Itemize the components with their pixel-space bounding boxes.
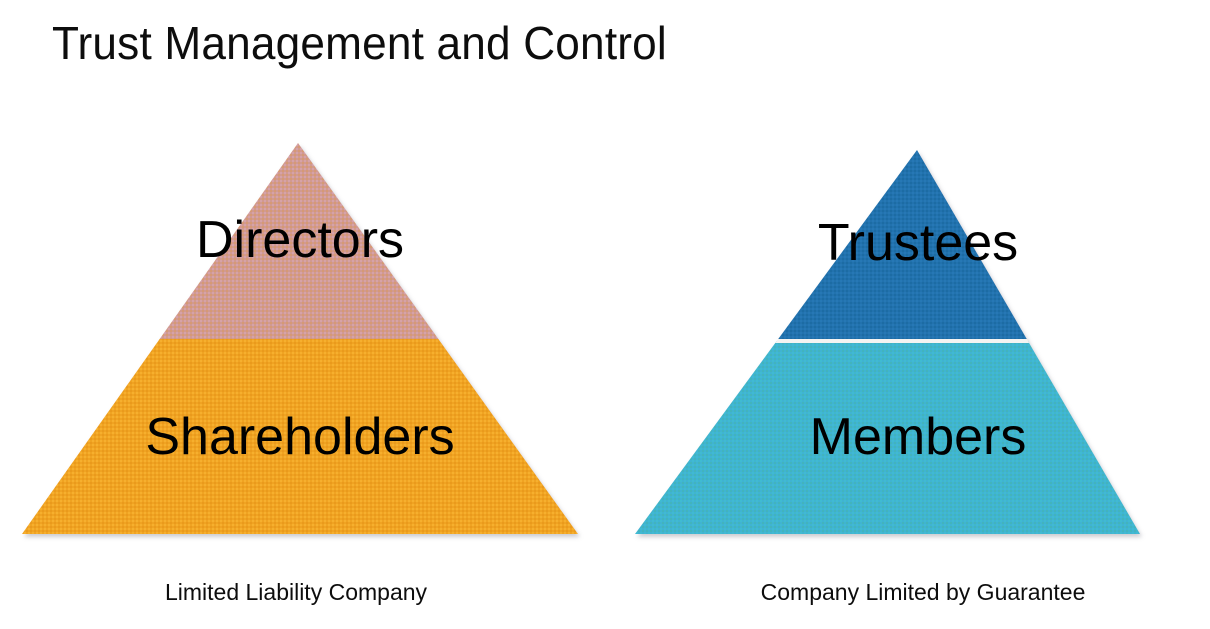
pyramid-diagram-svg [0, 0, 1210, 629]
pyramid-caption-limited-liability-company: Limited Liability Company [165, 578, 427, 606]
pyramid-tier-trustees[interactable] [600, 145, 1210, 339]
pyramid-tier-members[interactable] [600, 341, 1210, 535]
pyramid-tier-divider [600, 339, 1210, 343]
pyramid-diagram [0, 0, 1210, 629]
pyramid-tier-directors[interactable] [0, 140, 1210, 339]
pyramid-company-limited-by-guarantee[interactable] [600, 145, 1210, 535]
pyramid-caption-company-limited-by-guarantee: Company Limited by Guarantee [761, 578, 1086, 606]
